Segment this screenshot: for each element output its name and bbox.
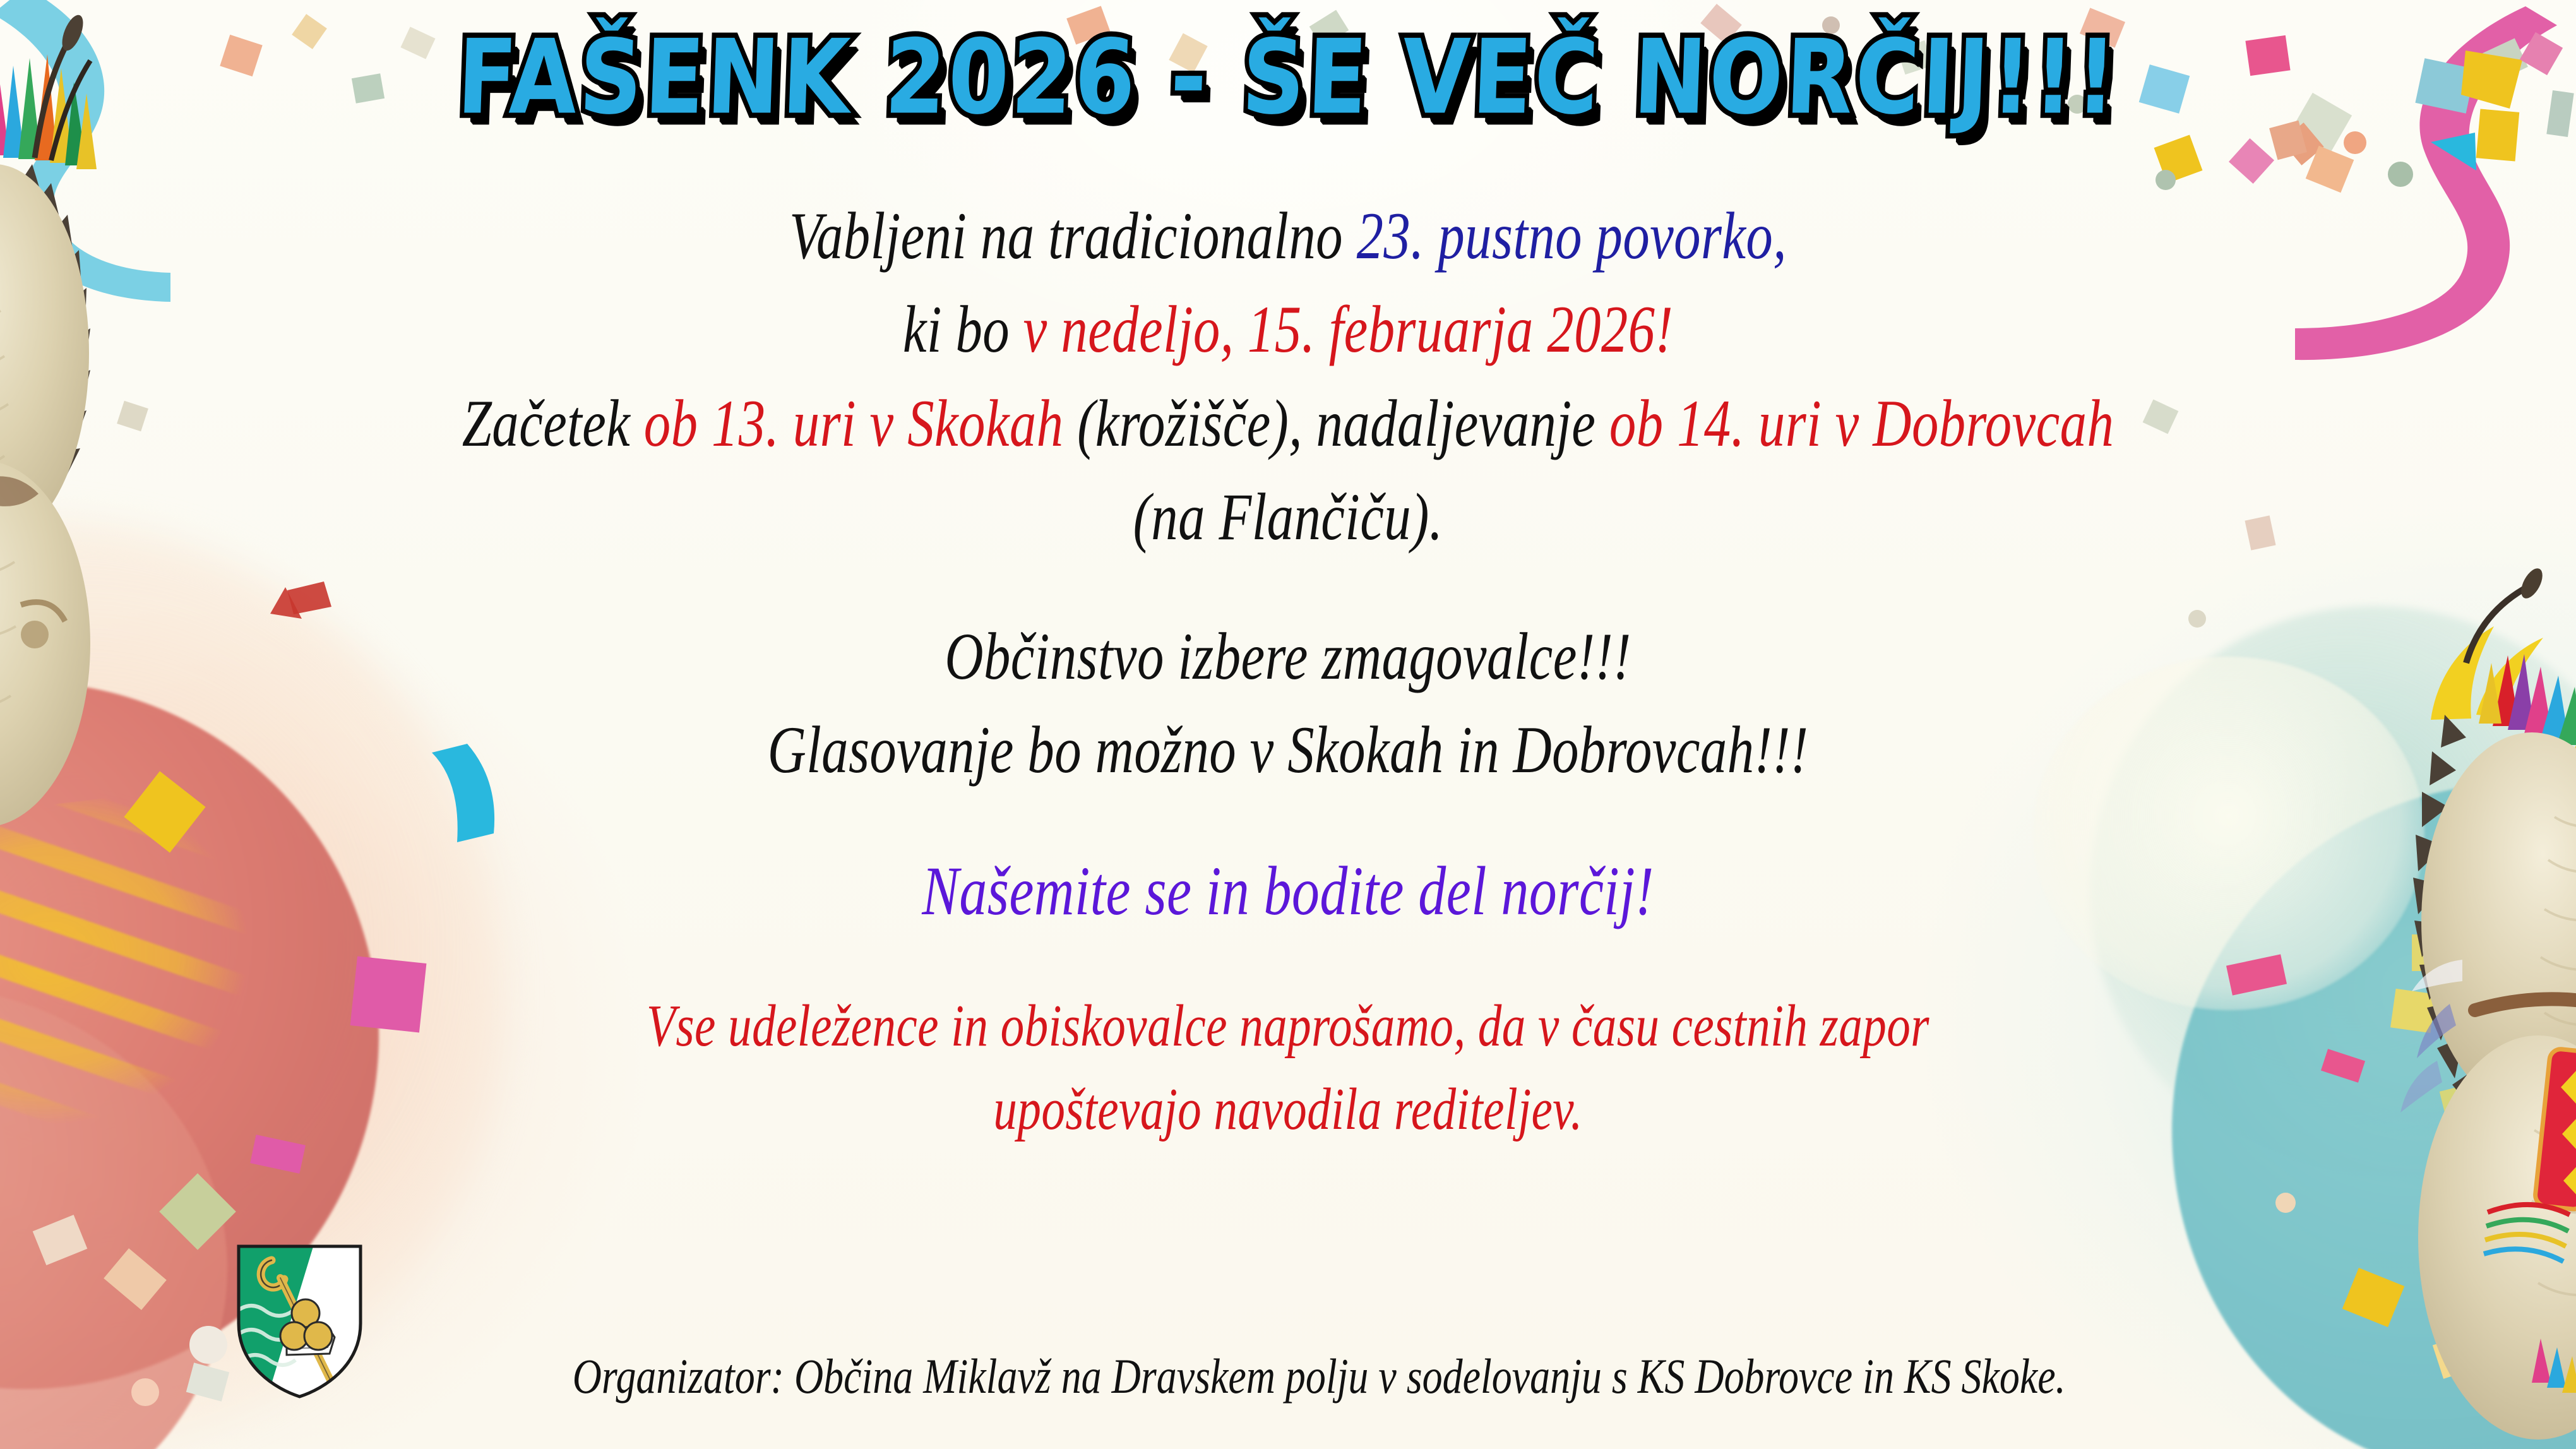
line3-red-b: ob 14. uri v Dobrovcah [1609,386,2114,460]
body-line-8: Vse udeležence in obiskovalce naprošamo,… [429,985,2147,1068]
line9-text: upoštevajo navodila rediteljev. [993,1076,1582,1142]
line3-black-b: (krožišče), nadaljevanje [1077,386,1609,460]
line6-text: Glasovanje bo možno v Skokah in Dobrovca… [768,713,1809,787]
line2-black: ki bo [903,292,1023,366]
line1-black: Vabljeni na tradicionalno [789,199,1356,273]
line3-red-a: ob 13. uri v Skokah [644,386,1077,460]
organizer-credit: Organizator: Občina Miklavž na Dravskem … [232,1348,2344,1405]
line8-text: Vse udeležence in obiskovalce naprošamo,… [647,993,1929,1059]
body-line-1: Vabljeni na tradicionalno 23. pustno pov… [429,189,2147,283]
body-line-4: (na Flančiču). [429,470,2147,564]
poster-content: FAŠENK 2026 - ŠE VEČ NORČIJ!!! Vabljeni … [0,0,2576,1449]
line4-text: (na Flančiču). [1133,480,1443,554]
line2-red: v nedeljo, 15. februarja 2026! [1023,292,1673,366]
spacer-1 [429,564,2147,610]
line7-text: Našemite se in bodite del norčij! [922,852,1654,929]
poster-canvas: FAŠENK 2026 - ŠE VEČ NORČIJ!!! Vabljeni … [0,0,2576,1449]
spacer-3 [429,939,2147,985]
line1-blue: 23. pustno povorko, [1357,199,1787,273]
body-line-6: Glasovanje bo možno v Skokah in Dobrovca… [429,703,2147,797]
body-line-5: Občinstvo izbere zmagovalce!!! [429,610,2147,703]
poster-body: Vabljeni na tradicionalno 23. pustno pov… [429,189,2147,1152]
body-line-9: upoštevajo navodila rediteljev. [429,1068,2147,1152]
poster-title: FAŠENK 2026 - ŠE VEČ NORČIJ!!! [0,18,2576,138]
body-line-2: ki bo v nedeljo, 15. februarja 2026! [429,283,2147,376]
spacer-2 [429,797,2147,842]
line3-black-a: Začetek [462,386,644,460]
body-line-7: Našemite se in bodite del norčij! [429,842,2147,939]
body-line-3: Začetek ob 13. uri v Skokah (krožišče), … [429,377,2147,470]
line5-text: Občinstvo izbere zmagovalce!!! [945,619,1631,693]
